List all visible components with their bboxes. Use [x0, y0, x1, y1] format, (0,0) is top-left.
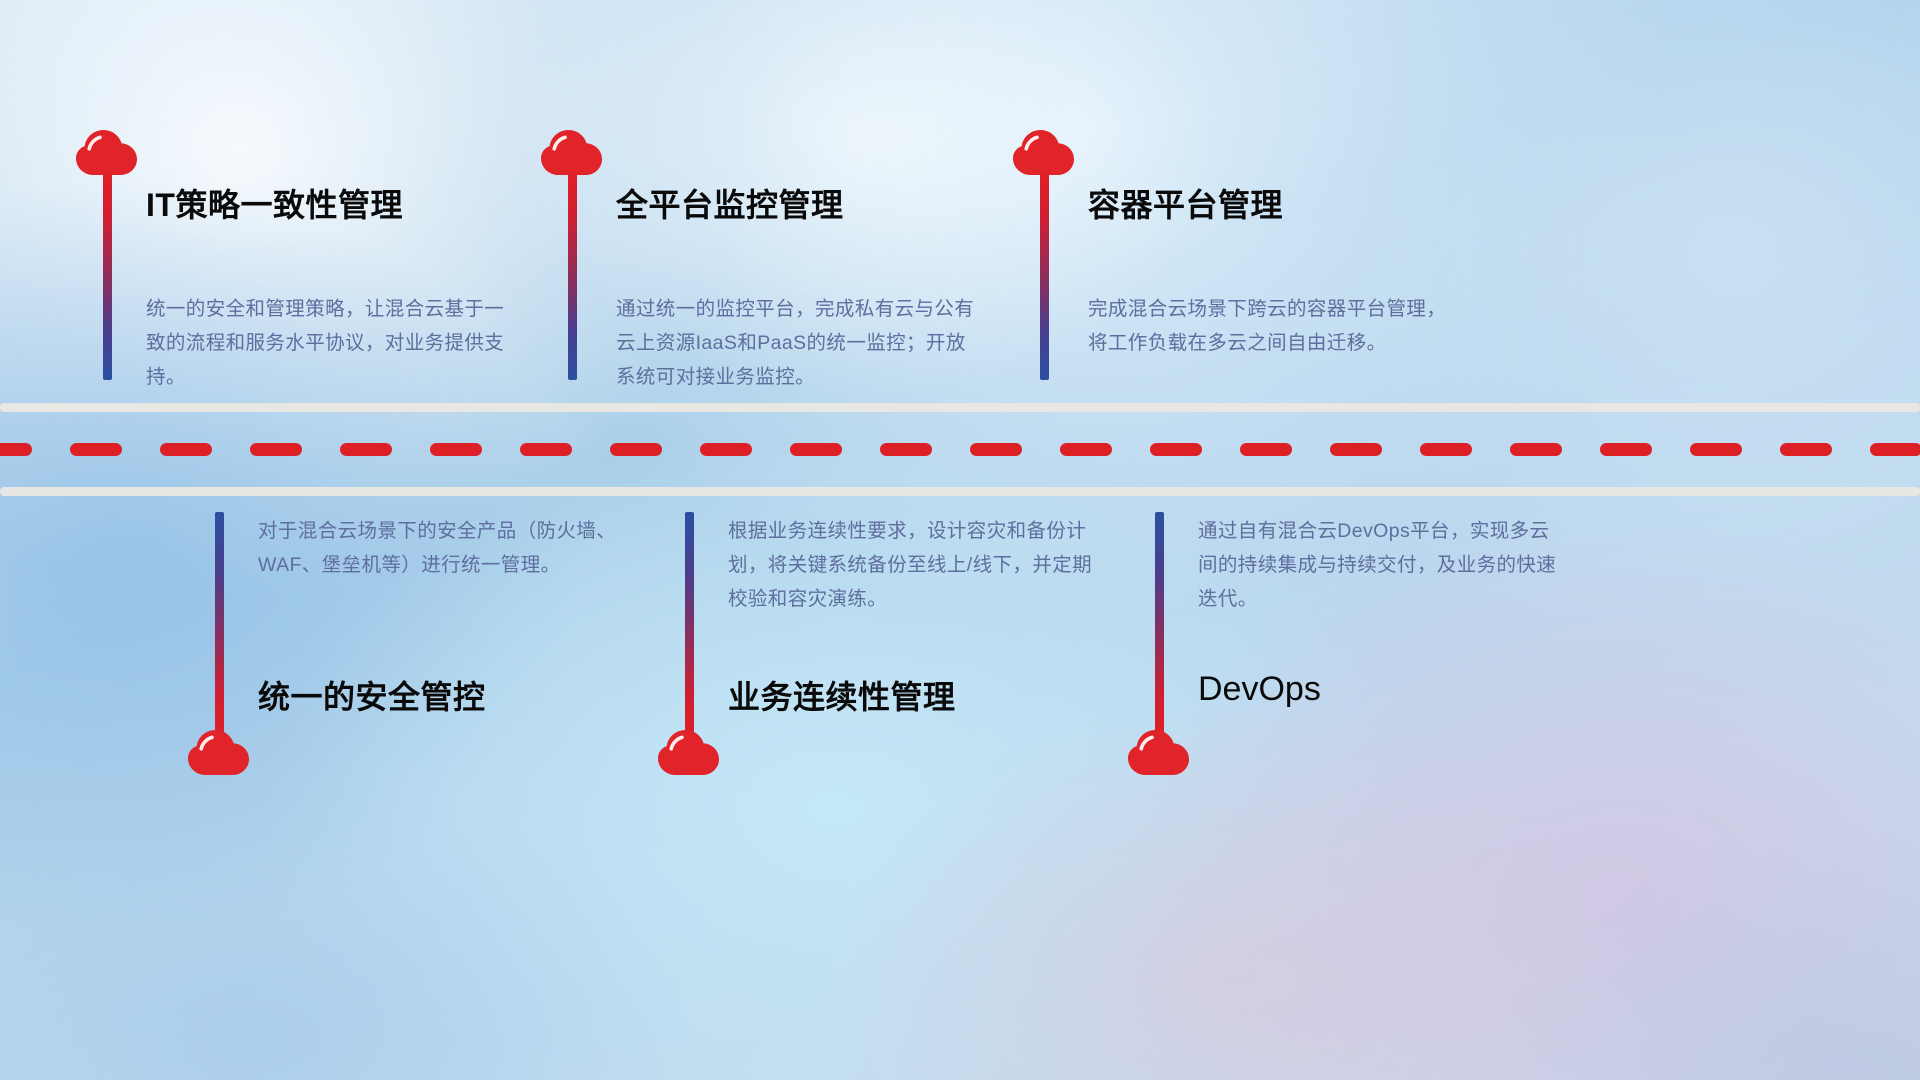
road-dash-segment [520, 443, 572, 456]
road-dash-segment [970, 443, 1022, 456]
item-heading: IT策略一致性管理 [146, 180, 403, 226]
item-heading: 容器平台管理 [1088, 180, 1283, 226]
marker-stem [1040, 172, 1049, 380]
road-dash-segment [1690, 443, 1742, 456]
item-paragraph: 统一的安全和管理策略，让混合云基于一致的流程和服务水平协议，对业务提供支持。 [146, 292, 506, 394]
cloud-icon [1013, 130, 1075, 176]
cloud-icon [658, 730, 720, 776]
road-dash-segment [610, 443, 662, 456]
marker-stem [568, 172, 577, 380]
road-dash-segment [1600, 443, 1652, 456]
cloud-icon [541, 130, 603, 176]
road-dash-segment [0, 443, 32, 456]
item-heading: 全平台监控管理 [616, 180, 844, 226]
item-heading: 业务连续性管理 [728, 672, 956, 718]
infographic-canvas: IT策略一致性管理 统一的安全和管理策略，让混合云基于一致的流程和服务水平协议，… [0, 0, 1920, 1080]
cloud-icon [188, 730, 250, 776]
road-dash-segment [430, 443, 482, 456]
road-edge-bottom [0, 487, 1920, 496]
road-dash-segment [1420, 443, 1472, 456]
item-paragraph: 通过自有混合云DevOps平台，实现多云间的持续集成与持续交付，及业务的快速迭代… [1198, 514, 1568, 616]
road-dash-segment [1330, 443, 1382, 456]
road-dash-segment [1060, 443, 1112, 456]
item-paragraph: 对于混合云场景下的安全产品（防火墙、WAF、堡垒机等）进行统一管理。 [258, 514, 628, 582]
item-paragraph: 完成混合云场景下跨云的容器平台管理，将工作负载在多云之间自由迁移。 [1088, 292, 1448, 360]
road-dash-segment [340, 443, 392, 456]
road-dash-segment [880, 443, 932, 456]
road-center-dashes [0, 443, 1920, 456]
item-paragraph: 根据业务连续性要求，设计容灾和备份计划，将关键系统备份至线上/线下，并定期校验和… [728, 514, 1098, 616]
road-dash-segment [70, 443, 122, 456]
marker-stem [1155, 512, 1164, 740]
cloud-icon [76, 130, 138, 176]
road-dash-segment [1870, 443, 1920, 456]
road-dash-segment [1780, 443, 1832, 456]
road-dash-segment [700, 443, 752, 456]
road-dash-segment [790, 443, 842, 456]
cloud-icon [1128, 730, 1190, 776]
road-dash-segment [1240, 443, 1292, 456]
road-dash-segment [250, 443, 302, 456]
road-dash-segment [1510, 443, 1562, 456]
item-paragraph: 通过统一的监控平台，完成私有云与公有云上资源IaaS和PaaS的统一监控；开放系… [616, 292, 976, 394]
marker-stem [215, 512, 224, 740]
marker-stem [103, 172, 112, 380]
item-heading: DevOps [1198, 670, 1321, 709]
road-dash-segment [1150, 443, 1202, 456]
item-heading: 统一的安全管控 [258, 672, 486, 718]
marker-stem [685, 512, 694, 740]
road-dash-segment [160, 443, 212, 456]
road-edge-top [0, 403, 1920, 412]
